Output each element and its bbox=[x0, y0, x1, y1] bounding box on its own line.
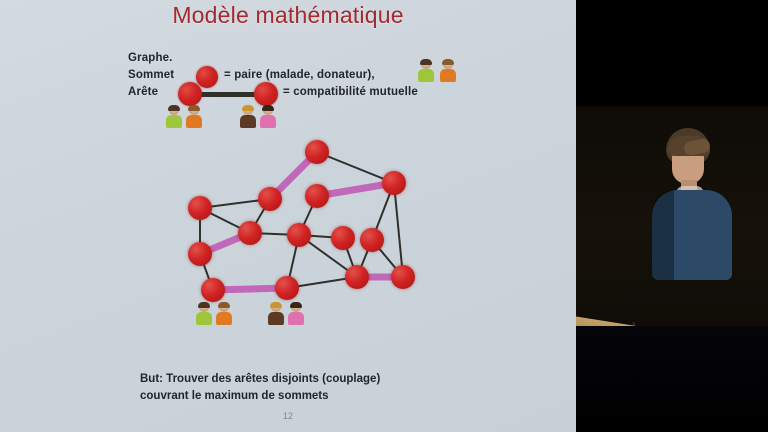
person-body bbox=[288, 312, 304, 325]
caption-line-2: couvrant le maximum de sommets bbox=[140, 388, 540, 405]
graph-edges bbox=[0, 0, 576, 432]
graph-node bbox=[382, 171, 406, 195]
graph-node bbox=[391, 265, 415, 289]
person-body bbox=[440, 69, 456, 82]
graph-node bbox=[331, 226, 355, 250]
person-figure-icon bbox=[216, 303, 232, 325]
video-letterbox-bottom bbox=[576, 326, 768, 432]
graph-node bbox=[345, 265, 369, 289]
graph-node bbox=[305, 184, 329, 208]
person-hair bbox=[168, 105, 180, 111]
person-figure-icon bbox=[288, 303, 304, 325]
speaker-torso-shadow bbox=[652, 190, 674, 280]
person-figure-icon bbox=[440, 60, 456, 82]
graph-node bbox=[258, 187, 282, 211]
person-body bbox=[186, 115, 202, 128]
person-hair bbox=[198, 302, 210, 308]
person-figure-icon bbox=[260, 106, 276, 128]
person-figure-icon bbox=[240, 106, 256, 128]
speaker-figure bbox=[654, 128, 726, 278]
graph-diagram bbox=[0, 0, 576, 432]
graph-node bbox=[287, 223, 311, 247]
presentation-slide: Modèle mathématique Graphe. Sommet Arête… bbox=[0, 0, 576, 432]
person-figure-icon bbox=[418, 60, 434, 82]
person-hair bbox=[442, 59, 454, 65]
person-figure-icon bbox=[166, 106, 182, 128]
person-body bbox=[260, 115, 276, 128]
person-body bbox=[166, 115, 182, 128]
person-body bbox=[240, 115, 256, 128]
graph-node bbox=[275, 276, 299, 300]
person-figure-icon bbox=[186, 106, 202, 128]
graph-node bbox=[238, 221, 262, 245]
person-body bbox=[196, 312, 212, 325]
person-hair bbox=[420, 59, 432, 65]
person-hair bbox=[218, 302, 230, 308]
person-body bbox=[216, 312, 232, 325]
graph-node bbox=[305, 140, 329, 164]
person-hair bbox=[270, 302, 282, 308]
person-hair bbox=[262, 105, 274, 111]
graph-edge bbox=[394, 183, 403, 277]
screen: Modèle mathématique Graphe. Sommet Arête… bbox=[0, 0, 768, 432]
person-hair bbox=[242, 105, 254, 111]
person-figure-icon bbox=[196, 303, 212, 325]
graph-node bbox=[360, 228, 384, 252]
graph-node bbox=[188, 196, 212, 220]
person-hair bbox=[188, 105, 200, 111]
person-hair bbox=[290, 302, 302, 308]
person-body bbox=[268, 312, 284, 325]
page-number: 12 bbox=[0, 411, 576, 421]
person-body bbox=[418, 69, 434, 82]
slide-caption: But: Trouver des arêtes disjoints (coupl… bbox=[140, 371, 540, 404]
video-letterbox-top bbox=[576, 0, 768, 106]
graph-node bbox=[188, 242, 212, 266]
graph-node bbox=[201, 278, 225, 302]
person-figure-icon bbox=[268, 303, 284, 325]
caption-line-1: But: Trouver des arêtes disjoints (coupl… bbox=[140, 371, 540, 388]
video-panel: COLLÈGE DE FRANCE 1530 bbox=[576, 0, 768, 432]
